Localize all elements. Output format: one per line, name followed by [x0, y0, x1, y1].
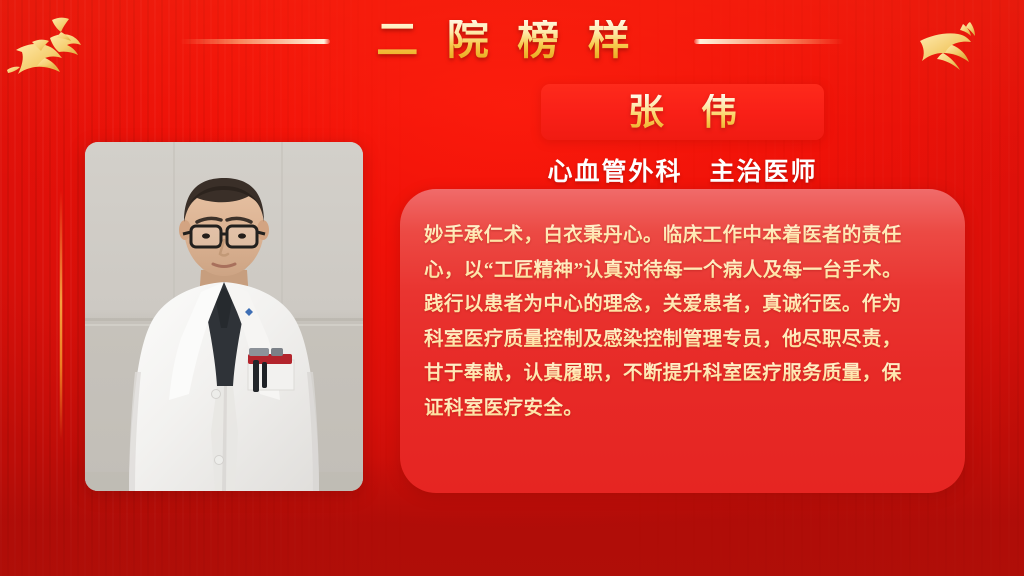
name-banner: 张 伟 [541, 84, 824, 140]
portrait-photo-image [85, 142, 363, 491]
portrait-photo [85, 142, 363, 491]
poster-root: 二 院 榜 样 张 伟 心血管外科 主治医师 [0, 0, 1024, 576]
title-rule-left-icon [180, 39, 330, 44]
gold-accent-line [60, 190, 62, 440]
description-card: 妙手承仁术，白衣秉丹心。临床工作中本着医者的责任 心，以“工匠精神”认真对待每一… [400, 189, 965, 493]
description-line: 科室医疗质量控制及感染控制管理专员，他尽职尽责， [424, 323, 943, 358]
description-text: 妙手承仁术，白衣秉丹心。临床工作中本着医者的责任 心，以“工匠精神”认真对待每一… [424, 219, 943, 426]
description-line: 心，以“工匠精神”认真对待每一个病人及每一台手术。 [424, 254, 943, 289]
person-title-subtitle: 心血管外科 主治医师 [400, 152, 965, 188]
title-rule-right-icon [694, 39, 844, 44]
description-line: 践行以患者为中心的理念，关爱患者，真诚行医。作为 [424, 288, 943, 323]
page-title: 二 院 榜 样 [376, 20, 648, 62]
title-row: 二 院 榜 样 [0, 8, 1024, 74]
description-line: 甘于奉献，认真履职，不断提升科室医疗服务质量，保 [424, 357, 943, 392]
description-line: 妙手承仁术，白衣秉丹心。临床工作中本着医者的责任 [424, 219, 943, 254]
person-name: 张 伟 [614, 94, 751, 130]
description-line: 证科室医疗安全。 [424, 392, 943, 427]
